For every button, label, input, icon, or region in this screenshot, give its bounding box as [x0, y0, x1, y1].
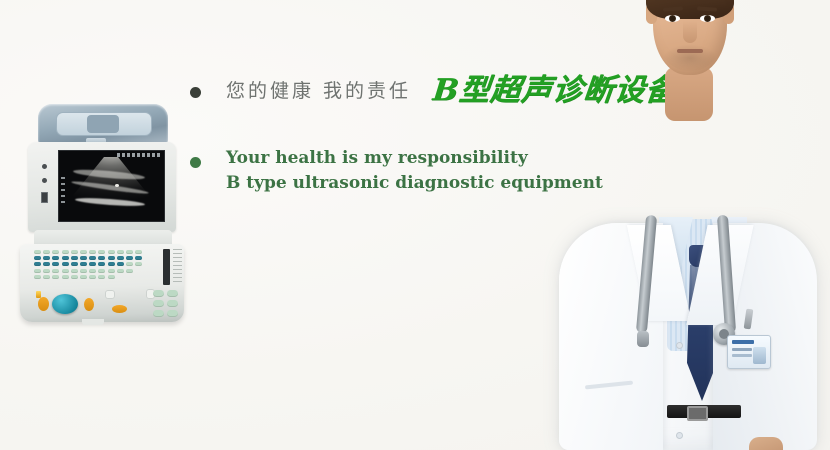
keyboard-key	[117, 269, 124, 273]
function-key	[34, 262, 41, 266]
function-key	[80, 256, 87, 260]
function-key	[89, 256, 96, 260]
machine-keyboard	[34, 250, 158, 290]
handle-grip-opening	[56, 112, 152, 136]
function-key	[98, 262, 105, 266]
machine-display-housing	[28, 142, 176, 232]
keyboard-row	[34, 250, 158, 254]
keyboard-key	[108, 250, 115, 254]
keyboard-row	[34, 275, 158, 279]
keyboard-key	[98, 275, 105, 279]
doctor-hand	[749, 437, 783, 450]
keyboard-key	[135, 262, 142, 266]
promo-banner: 您的健康 我的责任B型超声诊断设备 Your health is my resp…	[0, 0, 830, 450]
function-key	[43, 262, 50, 266]
keyboard-row	[34, 269, 158, 273]
function-key	[117, 262, 124, 266]
keypad-key	[167, 310, 178, 317]
keyboard-key	[80, 250, 87, 254]
keyboard-key	[80, 269, 87, 273]
keyboard-key	[43, 275, 50, 279]
coat-button	[677, 343, 682, 348]
function-key	[71, 256, 78, 260]
keyboard-key	[89, 269, 96, 273]
control-knob-icon	[42, 164, 47, 169]
function-key	[62, 262, 69, 266]
function-key	[43, 256, 50, 260]
bullet-dot-icon	[190, 87, 201, 98]
keyboard-key	[43, 269, 50, 273]
keyboard-key	[34, 250, 41, 254]
keyboard-row	[34, 262, 158, 266]
port-slot-icon	[41, 192, 48, 203]
keyboard-key	[71, 269, 78, 273]
keyboard-key	[98, 250, 105, 254]
keyboard-key	[126, 269, 133, 273]
function-key	[135, 256, 142, 260]
keyboard-key	[126, 262, 133, 266]
function-key	[52, 262, 59, 266]
keyboard-key	[126, 250, 133, 254]
keyboard-key	[52, 269, 59, 273]
pupil-icon	[704, 15, 711, 22]
keypad-key	[153, 300, 164, 307]
function-key	[62, 256, 69, 260]
ultrasound-screen	[58, 150, 165, 222]
machine-front-foot	[82, 319, 104, 325]
keyboard-key	[80, 275, 87, 279]
keyboard-key	[43, 250, 50, 254]
keyboard-key	[71, 250, 78, 254]
numeric-keypad	[138, 290, 178, 318]
keypad-row	[138, 290, 178, 297]
keyboard-key	[117, 250, 124, 254]
control-knob-icon	[42, 178, 47, 183]
keyboard-key	[98, 269, 105, 273]
freeze-button	[38, 297, 49, 311]
screen-depth-scale	[61, 177, 65, 205]
doctor-hair	[646, 0, 734, 19]
tgc-slider-scale	[173, 249, 182, 285]
slogan-chinese: 您的健康 我的责任	[226, 76, 411, 106]
measure-button	[84, 298, 94, 311]
keyboard-key	[108, 269, 115, 273]
keypad-key	[167, 290, 178, 297]
ultrasound-machine-image	[18, 104, 186, 322]
keypad-key	[153, 290, 164, 297]
bullet-dot-icon	[190, 157, 201, 168]
keyboard-key	[52, 275, 59, 279]
function-key	[108, 262, 115, 266]
function-key	[98, 256, 105, 260]
stethoscope-earpiece	[637, 331, 649, 347]
keyboard-key	[135, 250, 142, 254]
function-key	[71, 262, 78, 266]
coat-button	[677, 433, 682, 438]
mouth	[677, 49, 703, 53]
keyboard-key	[108, 275, 115, 279]
belt-buckle	[687, 406, 708, 421]
keypad-row	[138, 310, 178, 317]
function-key	[52, 256, 59, 260]
function-key	[80, 262, 87, 266]
keyboard-key	[34, 269, 41, 273]
function-key	[89, 262, 96, 266]
function-key	[117, 256, 124, 260]
eye-left	[665, 15, 680, 22]
keyboard-key	[62, 275, 69, 279]
keyboard-key	[89, 275, 96, 279]
function-key	[126, 256, 133, 260]
keypad-key	[167, 300, 178, 307]
keyboard-key	[62, 250, 69, 254]
doctor-lab-coat	[559, 223, 817, 450]
doctor-neck	[665, 67, 713, 121]
keyboard-key	[34, 275, 41, 279]
machine-control-panel	[20, 244, 184, 322]
belt	[667, 405, 741, 418]
machine-side-controls	[38, 164, 50, 208]
trackball	[52, 294, 78, 314]
scan-marker-dot	[115, 184, 119, 187]
ultrasound-scan-image	[59, 151, 164, 221]
function-key	[108, 256, 115, 260]
screen-status-readout	[117, 153, 161, 157]
keyboard-key	[71, 275, 78, 279]
doctor-photo	[545, 95, 830, 450]
id-badge	[727, 335, 771, 369]
keypad-row	[138, 300, 178, 307]
keypad-key	[153, 310, 164, 317]
function-key	[34, 256, 41, 260]
badge-photo	[753, 347, 766, 364]
pupil-icon	[669, 15, 676, 22]
keyboard-key	[52, 250, 59, 254]
mode-button	[105, 290, 115, 299]
eye-right	[700, 15, 715, 22]
keyboard-key	[62, 269, 69, 273]
keyboard-key	[89, 250, 96, 254]
keyboard-row	[34, 256, 158, 260]
print-button	[112, 305, 127, 313]
tgc-slider-track	[163, 249, 170, 285]
